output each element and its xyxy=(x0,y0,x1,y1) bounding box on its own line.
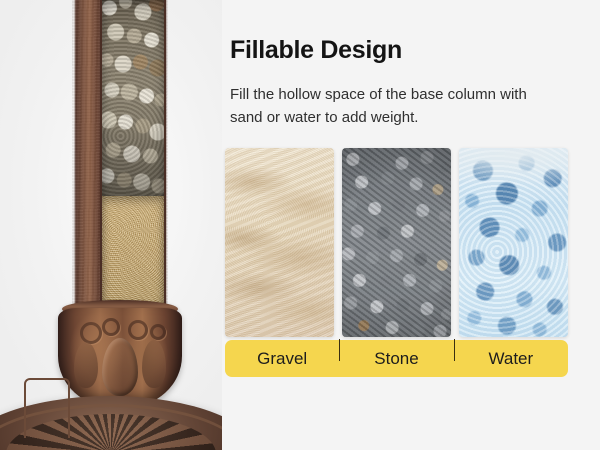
description-text: Fill the hollow space of the base column… xyxy=(230,83,560,129)
scrollwork-motif xyxy=(128,320,148,340)
label-stone: Stone xyxy=(339,349,453,369)
scrollwork-motif xyxy=(150,324,166,340)
panel-sand-texture xyxy=(225,148,334,337)
fill-option-label-bar: Gravel Stone Water xyxy=(225,340,568,377)
label-water: Water xyxy=(454,349,568,369)
gravel-fill xyxy=(102,0,164,196)
panel-water-texture xyxy=(459,148,568,337)
panel-stone-texture xyxy=(342,148,451,337)
scrollwork-motif xyxy=(102,318,120,336)
wire-hoop xyxy=(24,378,70,438)
label-gravel: Gravel xyxy=(225,349,339,369)
leaf-relief xyxy=(102,338,138,396)
sand-fill xyxy=(102,196,164,310)
leaf-relief xyxy=(142,340,166,388)
ornate-base-bulb xyxy=(58,308,182,408)
content-area: Fillable Design Fill the hollow space of… xyxy=(230,0,600,450)
leaf-relief xyxy=(74,342,98,388)
page-title: Fillable Design xyxy=(230,36,402,65)
product-photo xyxy=(0,0,222,450)
texture-panel-group xyxy=(225,148,568,337)
scrollwork-motif xyxy=(80,322,102,344)
column-cutaway-window xyxy=(100,0,166,310)
